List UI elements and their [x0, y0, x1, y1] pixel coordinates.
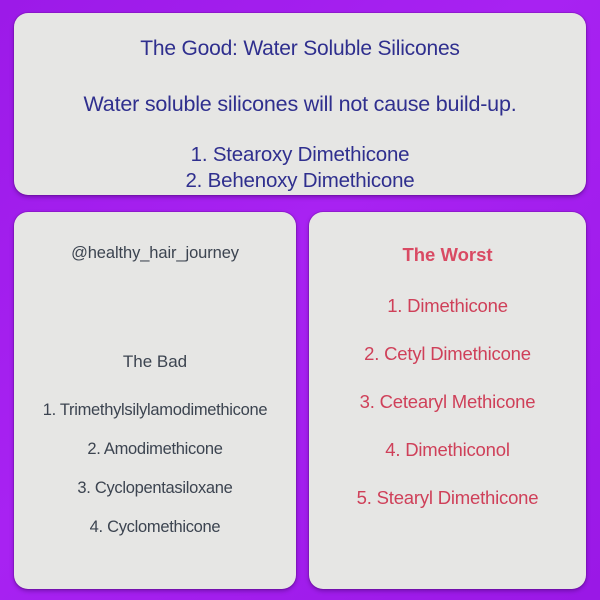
worst-panel-title: The Worst	[315, 244, 580, 266]
bad-silicones-panel: @healthy_hair_journey The Bad 1. Trimeth…	[14, 212, 296, 589]
account-handle: @healthy_hair_journey	[20, 244, 290, 263]
list-item: 5. Stearyl Dimethicone	[315, 474, 580, 522]
good-silicones-list: 1. Stearoxy Dimethicone 2. Behenoxy Dime…	[28, 142, 572, 194]
list-item: 4. Cyclomethicone	[20, 508, 290, 547]
worst-silicones-panel: The Worst 1. Dimethicone 2. Cetyl Dimeth…	[309, 212, 586, 589]
list-item: 3. Cyclopentasiloxane	[20, 469, 290, 508]
list-item: 2. Behenoxy Dimethicone	[28, 168, 572, 194]
bad-panel-title: The Bad	[20, 352, 290, 372]
list-item: 2. Amodimethicone	[20, 430, 290, 469]
worst-silicones-list: 1. Dimethicone 2. Cetyl Dimethicone 3. C…	[315, 282, 580, 522]
list-item: 2. Cetyl Dimethicone	[315, 330, 580, 378]
list-item: 4. Dimethiconol	[315, 426, 580, 474]
good-panel-subtitle: Water soluble silicones will not cause b…	[28, 92, 572, 117]
good-panel-title: The Good: Water Soluble Silicones	[28, 37, 572, 61]
list-item: 1. Stearoxy Dimethicone	[28, 142, 572, 168]
list-item: 1. Dimethicone	[315, 282, 580, 330]
infographic-canvas: The Good: Water Soluble Silicones Water …	[0, 0, 600, 600]
list-item: 3. Cetearyl Methicone	[315, 378, 580, 426]
good-silicones-panel: The Good: Water Soluble Silicones Water …	[14, 13, 586, 195]
bad-silicones-list: 1. Trimethylsilylamodimethicone 2. Amodi…	[20, 391, 290, 547]
list-item: 1. Trimethylsilylamodimethicone	[20, 391, 290, 430]
